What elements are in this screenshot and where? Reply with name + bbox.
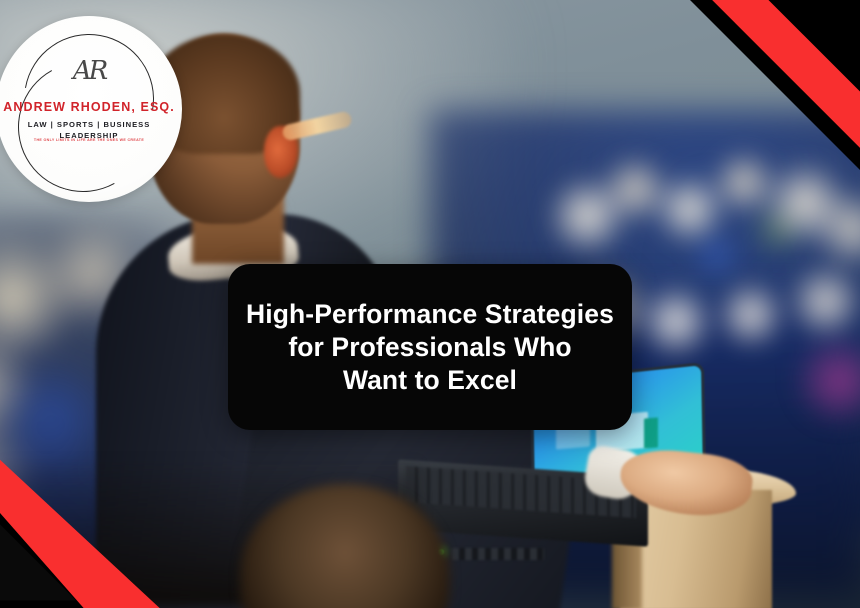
headline-text: High-Performance Strategies for Professi…	[232, 298, 628, 397]
headline-line-1: High-Performance Strategies	[246, 298, 614, 331]
laptop-screen-accent-bar	[644, 417, 658, 448]
headline-card: High-Performance Strategies for Professi…	[228, 264, 632, 430]
promo-graphic: AR ANDREW RHODEN, ESQ. LAW | SPORTS | BU…	[0, 0, 860, 608]
logo-subtitle-line-1: LAW | SPORTS | BUSINESS	[0, 119, 182, 130]
brand-logo[interactable]: AR ANDREW RHODEN, ESQ. LAW | SPORTS | BU…	[0, 16, 182, 202]
logo-name: ANDREW RHODEN, ESQ.	[0, 100, 182, 114]
headline-line-2: for Professionals Who	[246, 331, 614, 364]
logo-tagline: THE ONLY LIMITS IN LIFE ARE THE ONES WE …	[0, 138, 182, 142]
laptop-ports	[452, 548, 544, 560]
headline-line-3: Want to Excel	[246, 364, 614, 397]
logo-monogram: AR	[0, 56, 182, 86]
